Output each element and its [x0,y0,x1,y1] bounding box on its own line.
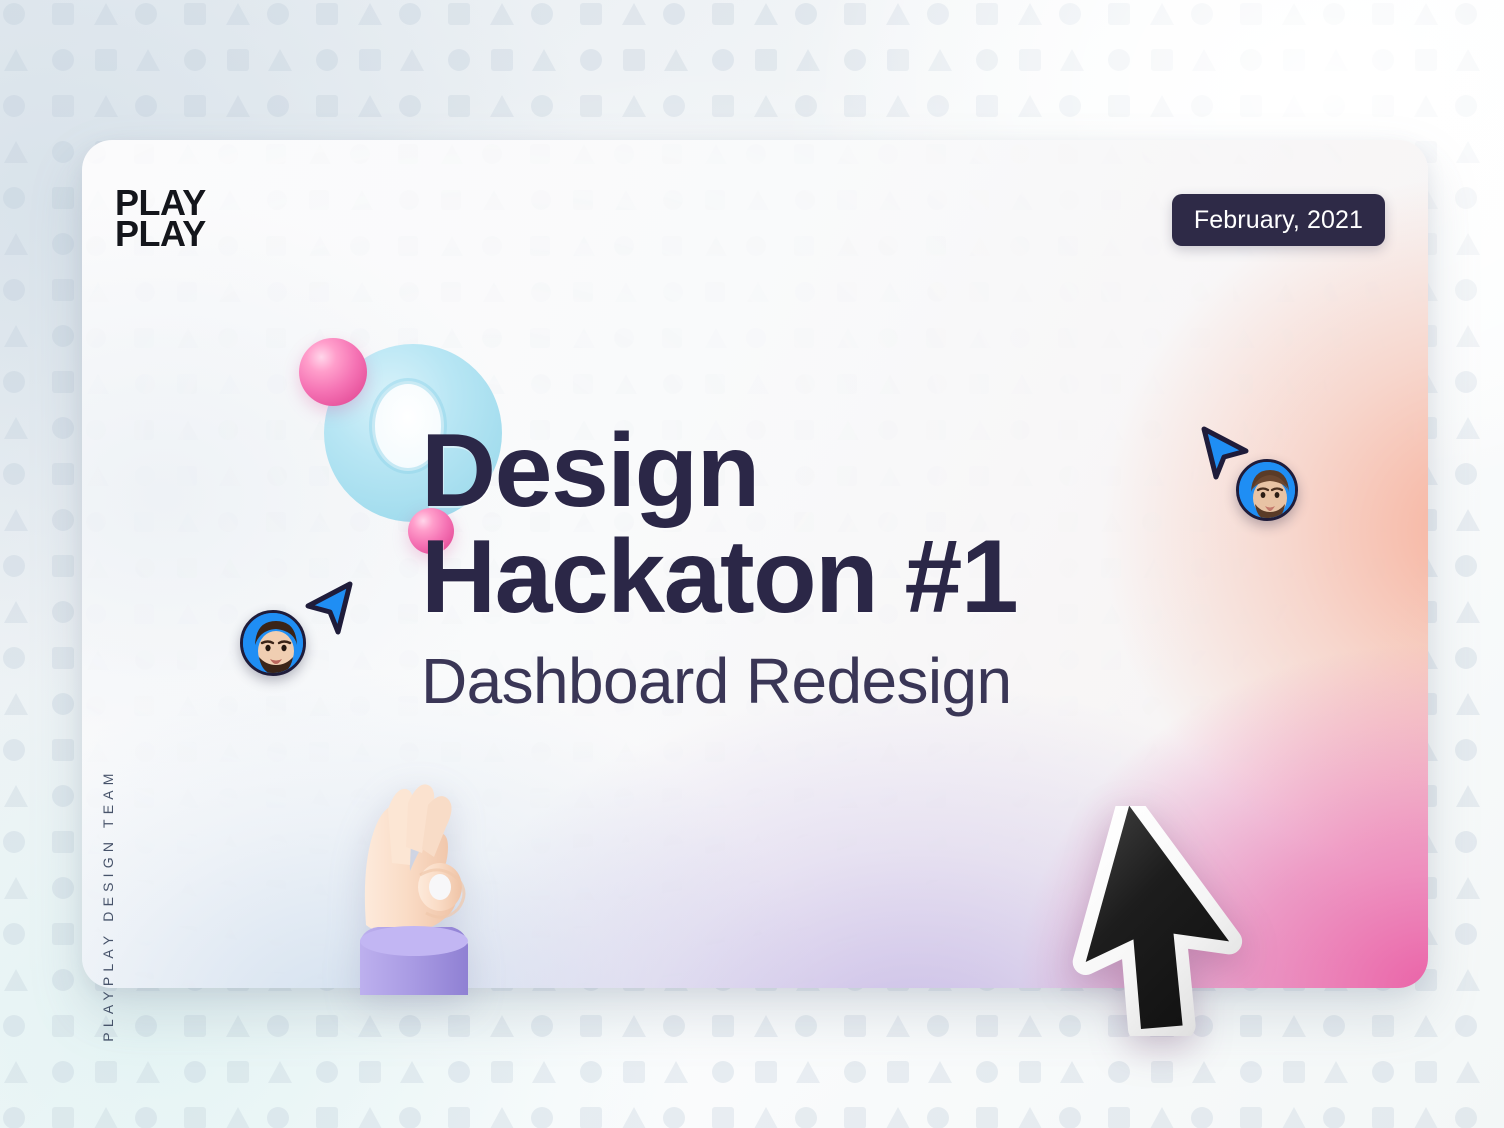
ok-hand-3d-icon [348,775,474,995]
collaborator-cursor-right[interactable] [1190,425,1330,545]
title-line-1: Design [421,418,1141,524]
cursor-arrow-icon [302,580,358,644]
title-line-2: Hackaton #1 [421,524,1141,630]
avatar [240,610,306,676]
hero-title-block: Design Hackaton #1 Dashboard Redesign [421,418,1141,718]
avatar [1236,459,1298,521]
page-subtitle: Dashboard Redesign [421,644,1141,718]
vertical-team-label-text: PLAYPLAY DESIGN TEAM [100,768,116,1041]
large-3d-cursor-icon [1072,806,1262,1036]
vertical-team-label: PLAYPLAY DESIGN TEAM [104,565,128,905]
playplay-logo[interactable]: PLAY PLAY [115,188,206,250]
date-badge[interactable]: February, 2021 [1172,194,1385,246]
page-title: Design Hackaton #1 [421,418,1141,630]
presentation-slide: PLAY PLAY February, 2021 PLAYPLAY DESIGN… [0,0,1504,1128]
logo-line-2: PLAY [115,219,206,250]
collaborator-cursor-left[interactable] [232,580,372,690]
date-badge-label: February, 2021 [1194,206,1363,235]
pink-sphere-large [299,338,367,406]
